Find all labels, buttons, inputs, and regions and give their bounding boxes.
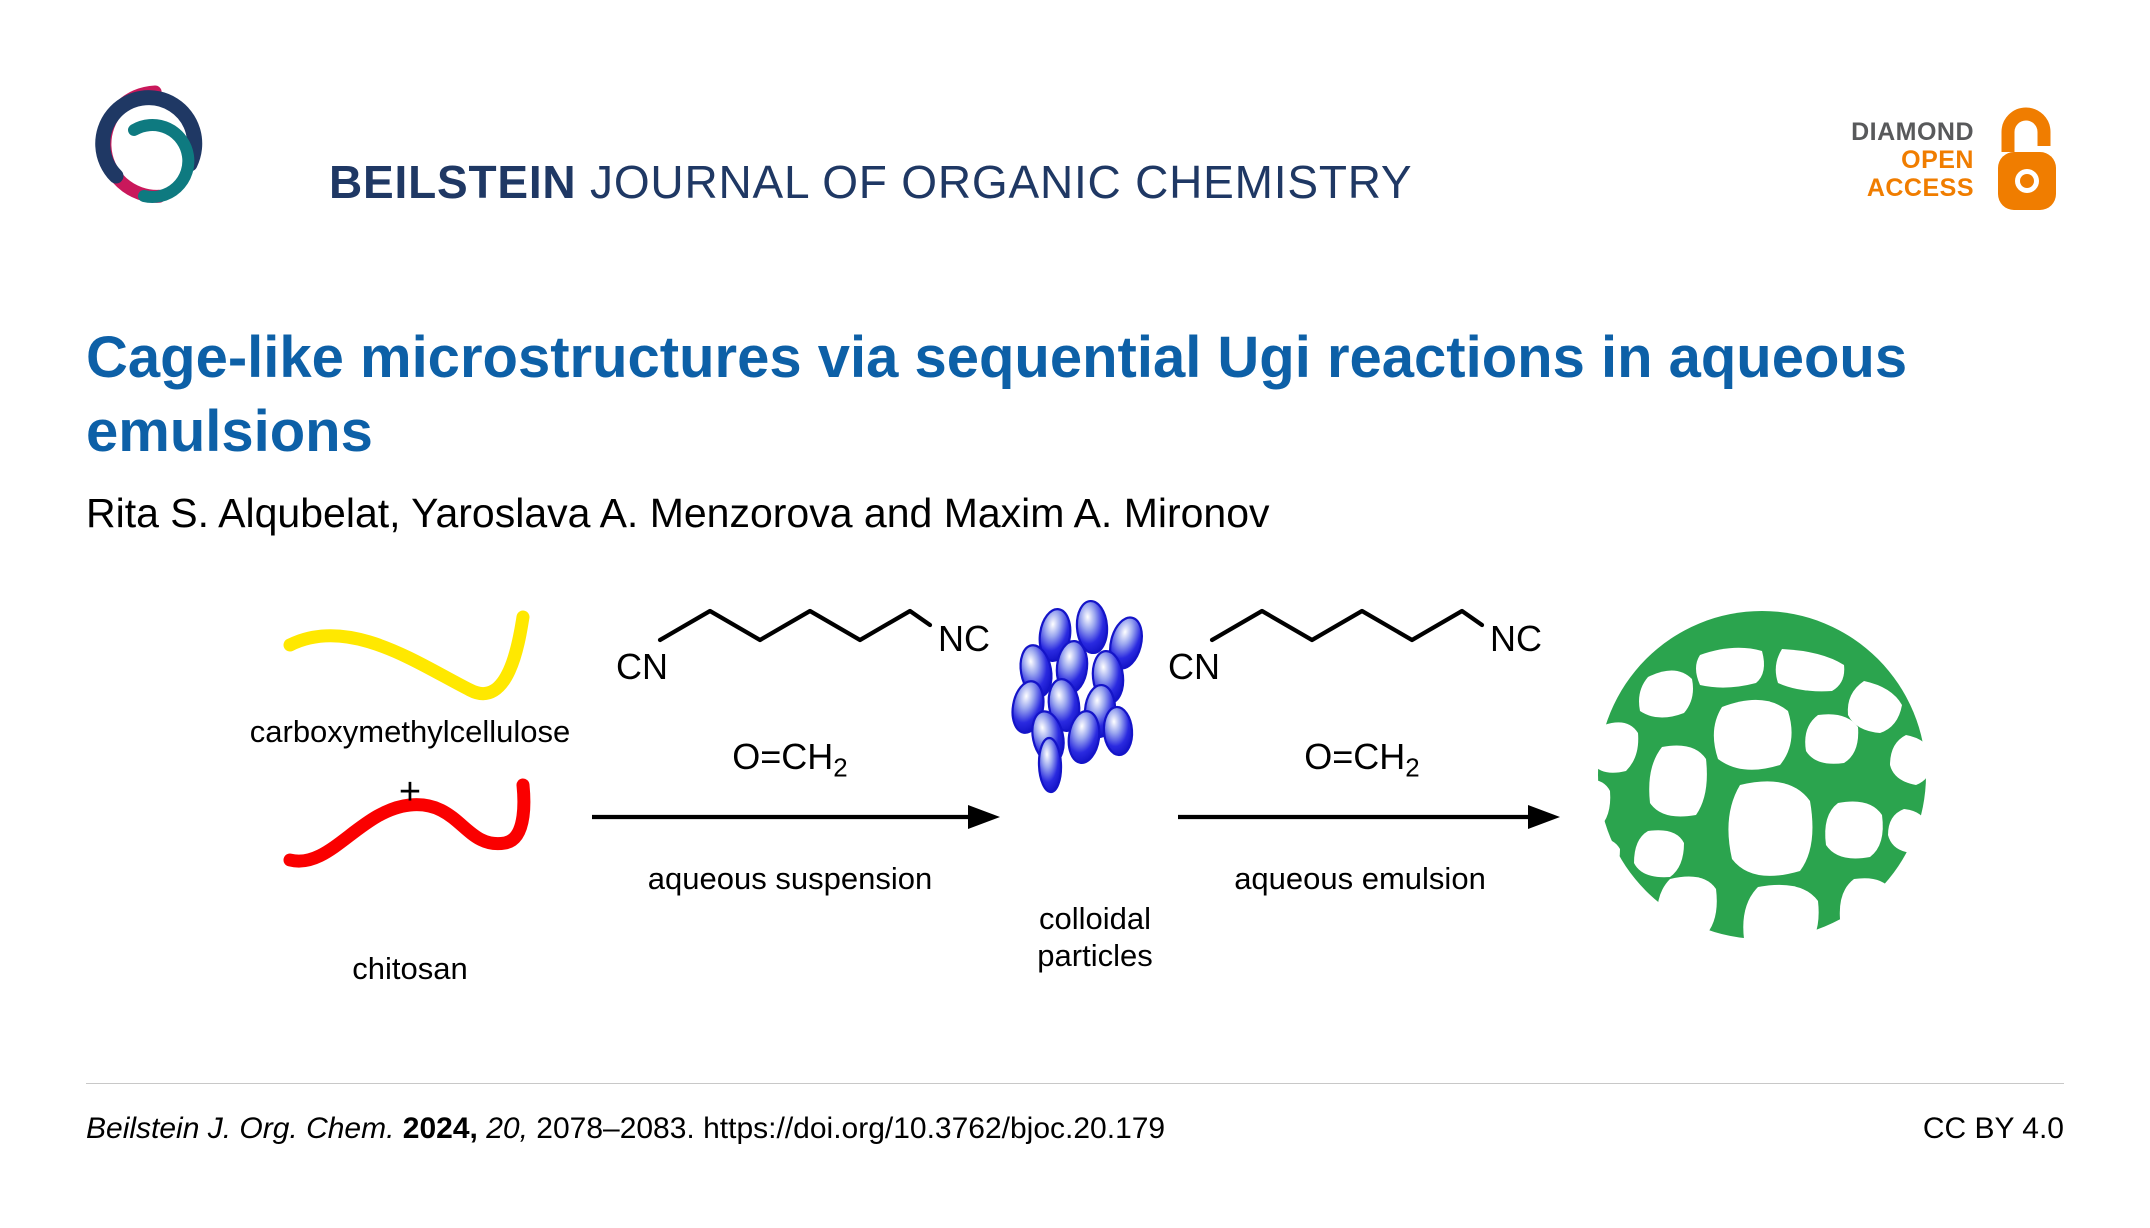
formaldehyde-label-1: O=CH2 xyxy=(640,735,940,784)
citation-pages: 2078–2083. xyxy=(536,1112,695,1145)
footer-divider xyxy=(86,1083,2064,1084)
open-access-words: DIAMOND OPEN ACCESS xyxy=(1851,118,1974,202)
open-access-diamond-label: DIAMOND xyxy=(1851,118,1974,146)
cmc-label: carboxymethylcellulose xyxy=(230,713,590,750)
condition-label-2: aqueous emulsion xyxy=(1160,860,1560,897)
chitosan-label: chitosan xyxy=(300,950,520,987)
graphical-abstract-page: BEILSTEIN JOURNAL OF ORGANIC CHEMISTRY D… xyxy=(0,0,2150,1228)
open-access-access-label: ACCESS xyxy=(1867,174,1974,202)
citation-doi[interactable]: https://doi.org/10.3762/bjoc.20.179 xyxy=(703,1112,1165,1145)
reaction-arrow-2 xyxy=(1178,805,1560,829)
diisocyanide-structure-2 xyxy=(1212,611,1482,640)
diisocyanide-structure-1 xyxy=(660,611,930,640)
reagent-1-right-label: NC xyxy=(934,617,994,660)
colloidal-particles-label: colloidal particles xyxy=(975,900,1215,974)
formaldehyde-label-2: O=CH2 xyxy=(1212,735,1512,784)
beilstein-swirl-logo xyxy=(86,80,221,215)
formaldehyde-subscript-1: 2 xyxy=(833,754,847,782)
reaction-scheme: carboxymethylcellulose + chitosan CN NC … xyxy=(0,595,2150,1015)
reaction-arrow-1 xyxy=(592,805,1000,829)
journal-title: BEILSTEIN JOURNAL OF ORGANIC CHEMISTRY xyxy=(329,159,1412,205)
condition-label-1: aqueous suspension xyxy=(590,860,990,897)
reagent-1-left-label: CN xyxy=(612,645,672,688)
citation-year: 2024, xyxy=(403,1112,478,1145)
journal-title-bold: BEILSTEIN xyxy=(329,156,576,208)
colloidal-particles-line1: colloidal xyxy=(975,900,1215,937)
journal-title-light: JOURNAL OF ORGANIC CHEMISTRY xyxy=(590,156,1412,208)
citation-journal: Beilstein J. Org. Chem. xyxy=(86,1112,394,1145)
footer-citation: Beilstein J. Org. Chem. 2024, 20, 2078–2… xyxy=(86,1112,1165,1146)
open-access-badge: DIAMOND OPEN ACCESS xyxy=(1851,102,2066,217)
plus-sign: + xyxy=(380,770,440,816)
formaldehyde-subscript-2: 2 xyxy=(1405,754,1419,782)
open-access-open-label: OPEN xyxy=(1901,146,1974,174)
open-lock-icon xyxy=(1988,106,2066,214)
journal-header: BEILSTEIN JOURNAL OF ORGANIC CHEMISTRY D… xyxy=(86,70,2066,190)
porous-cage-sphere xyxy=(1564,611,1934,954)
formaldehyde-formula-2: O=CH xyxy=(1304,736,1405,777)
reagent-2-right-label: NC xyxy=(1486,617,1546,660)
formaldehyde-formula-1: O=CH xyxy=(732,736,833,777)
reagent-2-left-label: CN xyxy=(1164,645,1224,688)
citation-volume: 20, xyxy=(486,1112,528,1145)
colloidal-particle-cluster xyxy=(1009,600,1147,792)
license-label: CC BY 4.0 xyxy=(1923,1112,2064,1146)
author-list: Rita S. Alqubelat, Yaroslava A. Menzorov… xyxy=(86,487,1916,540)
colloidal-particles-line2: particles xyxy=(975,937,1215,974)
cmc-polymer-squiggle xyxy=(290,617,523,694)
page-title: Cage-like microstructures via sequential… xyxy=(86,321,1916,469)
